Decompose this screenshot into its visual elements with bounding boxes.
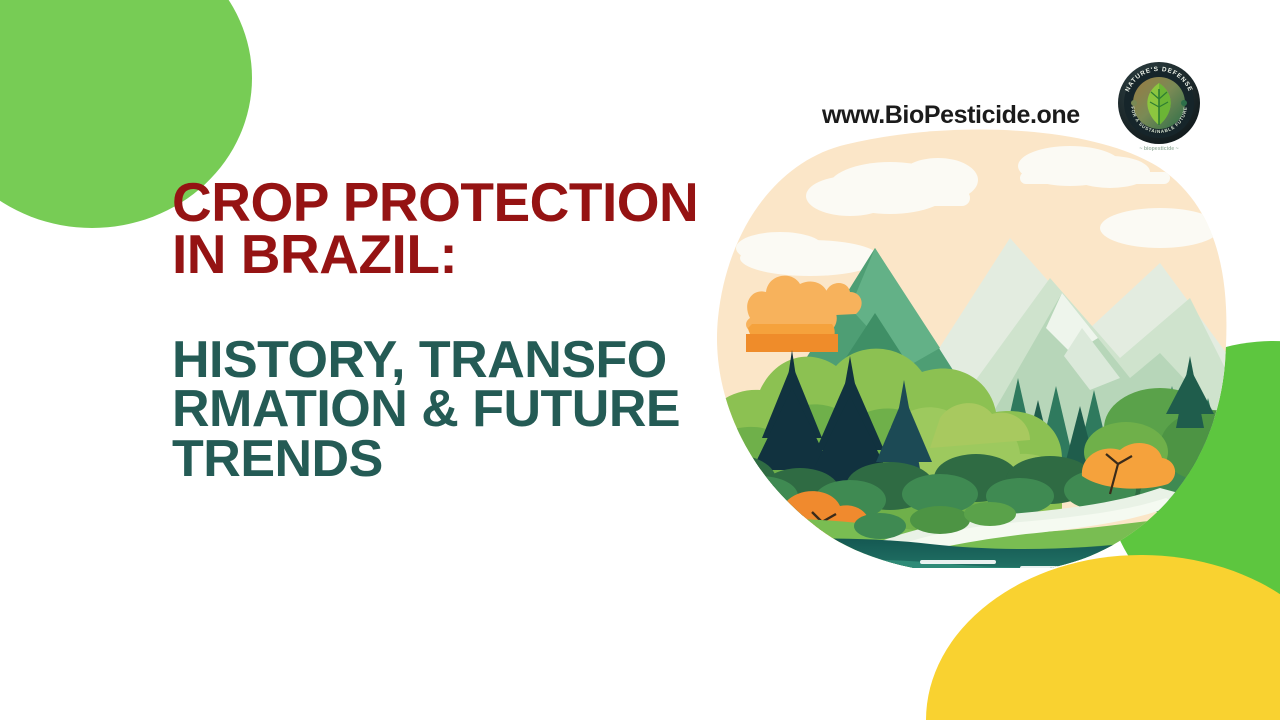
site-url[interactable]: www.BioPesticide.one	[822, 101, 1080, 130]
poster-canvas: www.BioPesticide.one	[0, 0, 1280, 720]
logo-badge[interactable]: NATURE'S DEFENSE FOR A SUSTAINABLE FUTUR…	[1117, 59, 1201, 159]
decor-circle-bottom-right	[926, 555, 1280, 720]
page-title: CROP PROTECTION IN BRAZIL:	[172, 176, 700, 281]
headline-block: CROP PROTECTION IN BRAZIL: HISTORY, TRAN…	[172, 176, 700, 485]
page-subtitle: HISTORY, TRANSFORMATION & FUTURE TRENDS	[172, 336, 700, 486]
badge-footer-text: ~ biopesticide ~	[1139, 146, 1178, 152]
landscape-illustration	[690, 128, 1230, 568]
